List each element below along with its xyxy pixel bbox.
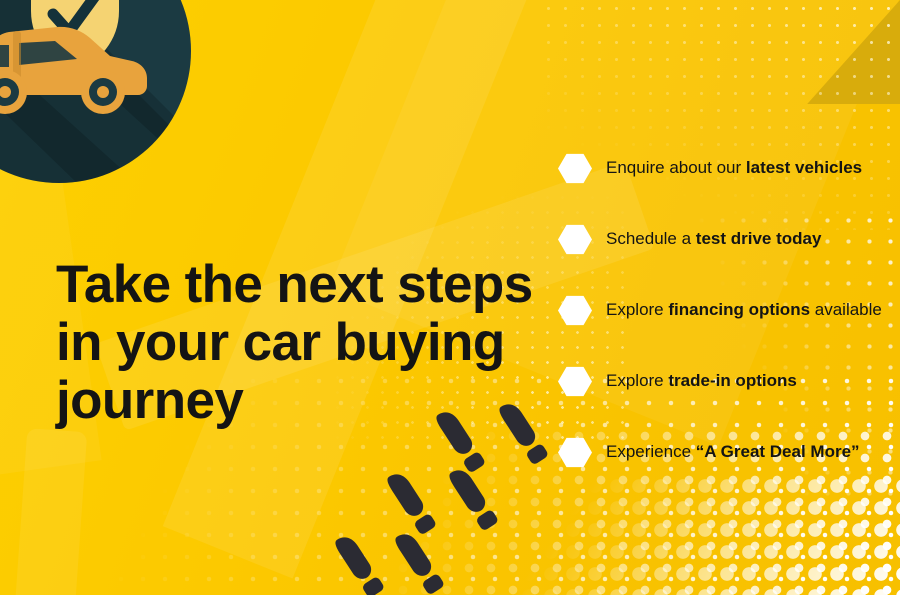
headline-line-2: in your car buying — [56, 314, 526, 372]
hexagon-bullet-icon — [558, 437, 592, 468]
hexagon-bullet-icon — [558, 366, 592, 397]
headline-line-1: Take the next steps — [56, 256, 526, 314]
list-item-label: Explore trade-in options — [606, 371, 797, 391]
list-item-label: Experience “A Great Deal More” — [606, 442, 860, 462]
list-item[interactable]: Experience “A Great Deal More” — [558, 417, 898, 488]
list-item-label: Explore financing options available — [606, 300, 882, 320]
promotional-banner: Take the next steps in your car buying j… — [0, 0, 900, 600]
page-title: Take the next steps in your car buying j… — [56, 256, 526, 429]
list-item-label: Schedule a test drive today — [606, 229, 821, 249]
hexagon-bullet-icon — [558, 295, 592, 326]
list-item[interactable]: Explore trade-in options — [558, 346, 898, 417]
list-item[interactable]: Schedule a test drive today — [558, 204, 898, 275]
hexagon-bullet-icon — [558, 224, 592, 255]
headline-line-3: journey — [56, 372, 526, 430]
benefits-list: Enquire about our latest vehicles Schedu… — [558, 133, 898, 488]
list-item[interactable]: Explore financing options available — [558, 275, 898, 346]
list-item-label: Enquire about our latest vehicles — [606, 158, 862, 178]
brand-badge — [0, 0, 191, 183]
bottom-divider — [0, 595, 900, 600]
hexagon-bullet-icon — [558, 153, 592, 184]
list-item[interactable]: Enquire about our latest vehicles — [558, 133, 898, 204]
shield-check-icon — [0, 0, 191, 183]
